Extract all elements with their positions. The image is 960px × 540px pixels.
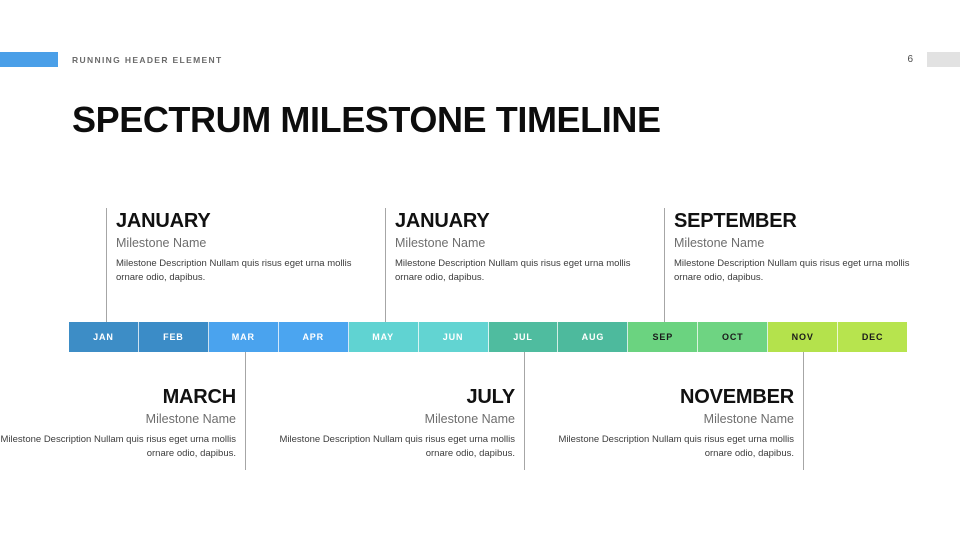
timeline-month-label: JAN — [93, 332, 114, 342]
milestone-month: JULY — [265, 385, 515, 409]
milestone-connector-bottom-2 — [524, 352, 525, 470]
timeline-month-jun[interactable]: JUN — [419, 322, 489, 352]
milestone-top-2: JANUARY Milestone Name Milestone Descrip… — [395, 209, 645, 284]
timeline-month-oct[interactable]: OCT — [698, 322, 768, 352]
milestone-description: Milestone Description Nullam quis risus … — [674, 257, 924, 284]
milestone-name: Milestone Name — [0, 410, 236, 428]
milestone-month: JANUARY — [116, 209, 366, 233]
milestone-bottom-1: MARCH Milestone Name Milestone Descripti… — [0, 385, 236, 460]
milestone-name: Milestone Name — [395, 234, 645, 252]
milestone-connector-bottom-1 — [245, 352, 246, 470]
milestone-connector-top-2 — [385, 208, 386, 322]
milestone-name: Milestone Name — [544, 410, 794, 428]
slide-canvas: RUNNING HEADER ELEMENT 6 SPECTRUM MILEST… — [0, 0, 960, 540]
milestone-description: Milestone Description Nullam quis risus … — [395, 257, 645, 284]
timeline-month-label: JUN — [443, 332, 464, 342]
milestone-month: JANUARY — [395, 209, 645, 233]
milestone-bottom-3: NOVEMBER Milestone Name Milestone Descri… — [544, 385, 794, 460]
timeline-month-label: OCT — [722, 332, 744, 342]
header-accent-bar — [0, 52, 58, 67]
milestone-connector-top-3 — [664, 208, 665, 322]
timeline-month-jan[interactable]: JAN — [69, 322, 139, 352]
milestone-description: Milestone Description Nullam quis risus … — [116, 257, 366, 284]
timeline-month-feb[interactable]: FEB — [139, 322, 209, 352]
timeline-bar: JANFEBMARAPRMAYJUNJULAUGSEPOCTNOVDEC — [69, 322, 907, 352]
timeline-month-label: DEC — [862, 332, 884, 342]
timeline-month-label: APR — [302, 332, 324, 342]
timeline-month-label: MAY — [372, 332, 394, 342]
milestone-top-3: SEPTEMBER Milestone Name Milestone Descr… — [674, 209, 924, 284]
milestone-name: Milestone Name — [265, 410, 515, 428]
page-number: 6 — [907, 53, 913, 66]
milestone-description: Milestone Description Nullam quis risus … — [265, 433, 515, 460]
milestone-description: Milestone Description Nullam quis risus … — [544, 433, 794, 460]
timeline-month-label: MAR — [232, 332, 255, 342]
timeline-month-dec[interactable]: DEC — [838, 322, 907, 352]
milestone-month: SEPTEMBER — [674, 209, 924, 233]
timeline-month-label: AUG — [582, 332, 605, 342]
milestone-month: NOVEMBER — [544, 385, 794, 409]
milestone-bottom-2: JULY Milestone Name Milestone Descriptio… — [265, 385, 515, 460]
timeline-month-sep[interactable]: SEP — [628, 322, 698, 352]
timeline-month-may[interactable]: MAY — [349, 322, 419, 352]
milestone-top-1: JANUARY Milestone Name Milestone Descrip… — [116, 209, 366, 284]
timeline-month-mar[interactable]: MAR — [209, 322, 279, 352]
timeline-month-label: JUL — [513, 332, 533, 342]
timeline-month-label: FEB — [163, 332, 184, 342]
timeline-month-aug[interactable]: AUG — [558, 322, 628, 352]
milestone-description: Milestone Description Nullam quis risus … — [0, 433, 236, 460]
running-header-label: RUNNING HEADER ELEMENT — [72, 54, 223, 66]
milestone-month: MARCH — [0, 385, 236, 409]
timeline-month-apr[interactable]: APR — [279, 322, 349, 352]
timeline-month-jul[interactable]: JUL — [489, 322, 559, 352]
timeline-month-label: SEP — [653, 332, 674, 342]
milestone-name: Milestone Name — [116, 234, 366, 252]
header-right-block — [927, 52, 960, 67]
timeline-month-nov[interactable]: NOV — [768, 322, 838, 352]
page-title: SPECTRUM MILESTONE TIMELINE — [72, 99, 661, 141]
milestone-connector-top-1 — [106, 208, 107, 322]
milestone-connector-bottom-3 — [803, 352, 804, 470]
milestone-name: Milestone Name — [674, 234, 924, 252]
timeline-month-label: NOV — [792, 332, 814, 342]
